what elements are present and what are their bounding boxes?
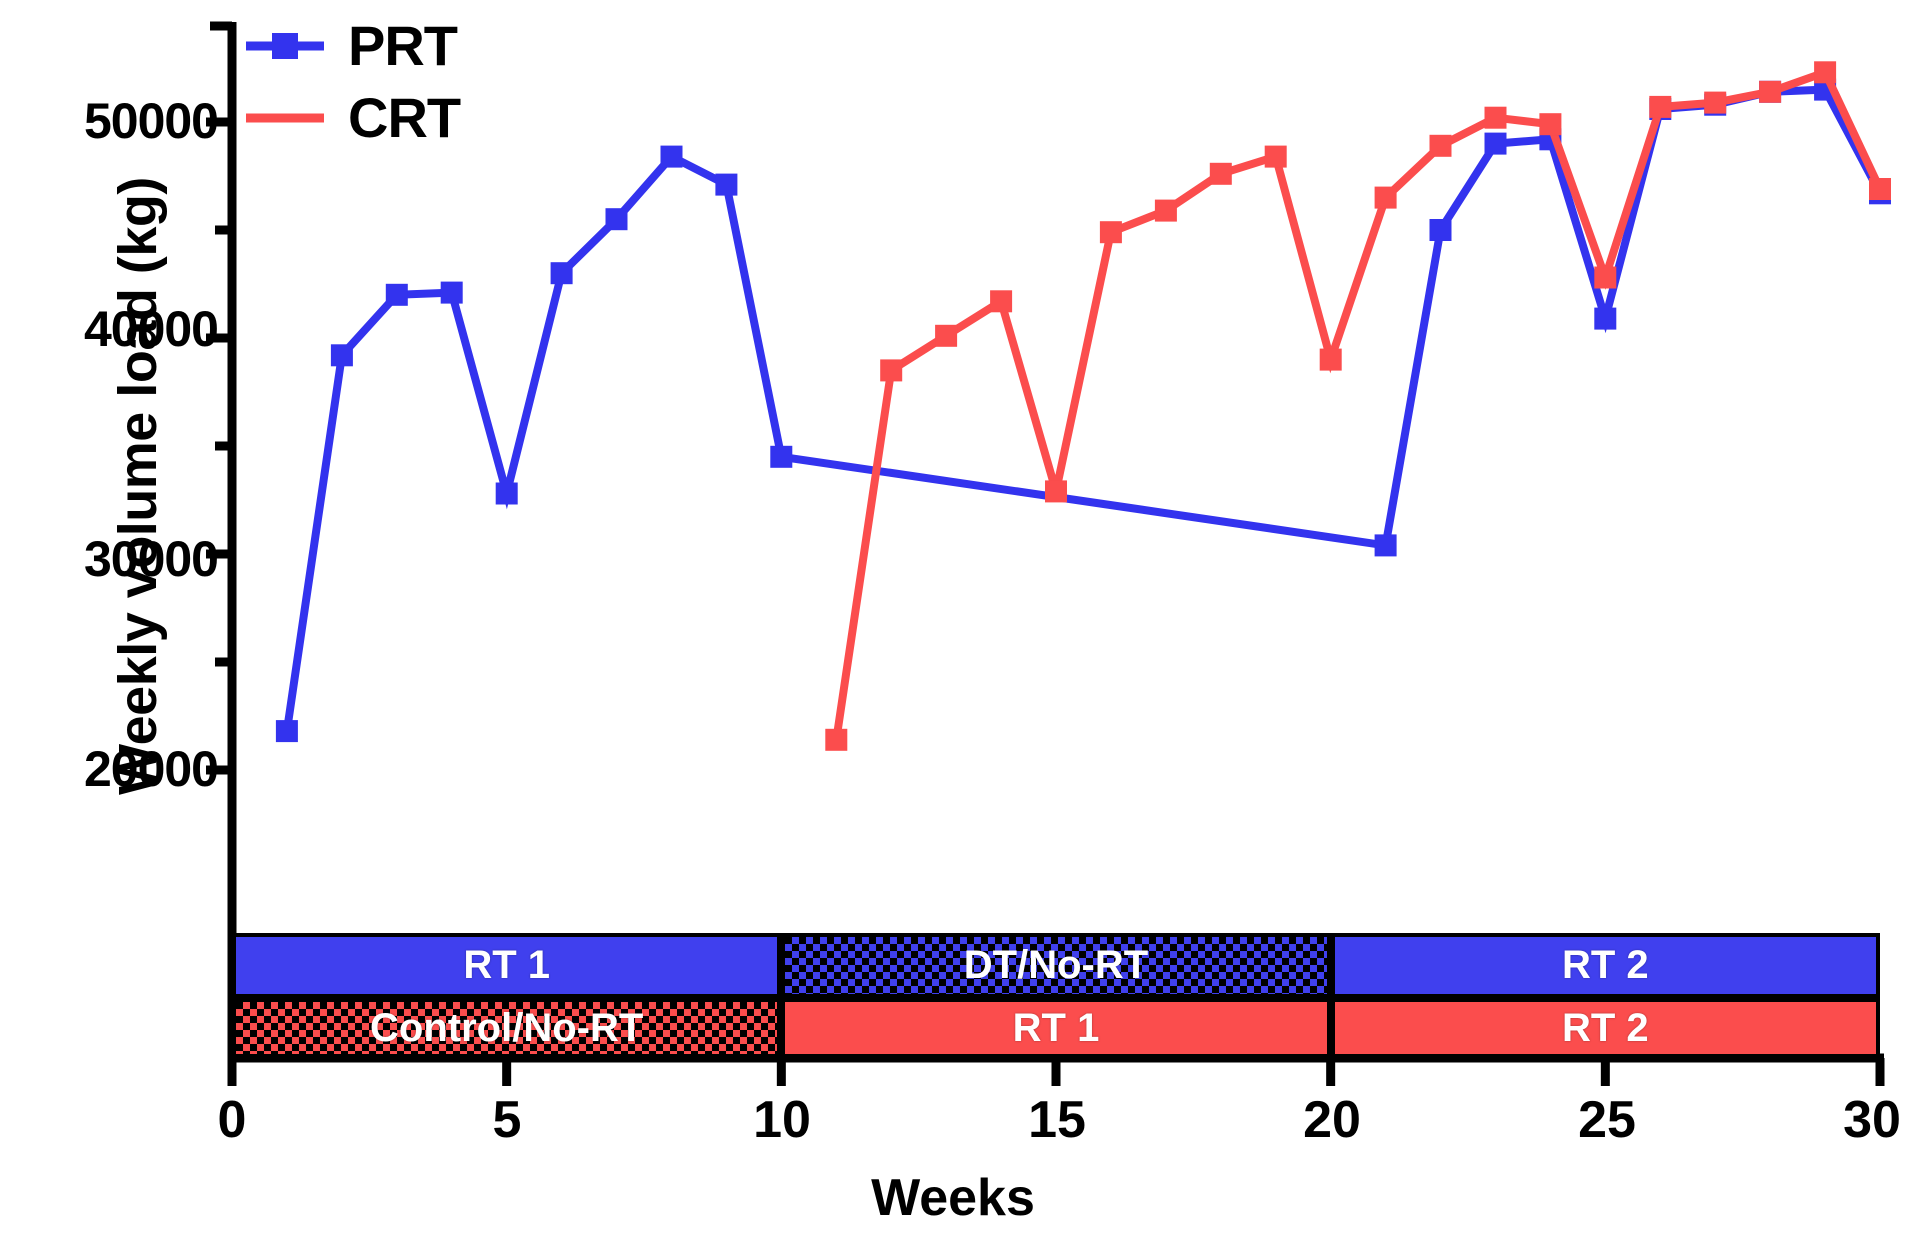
plot-area [0,0,1906,1246]
data-point-prt-w21 [1375,534,1397,556]
data-point-prt-w8 [661,146,683,168]
phase-segment-label: RT 2 [1562,943,1649,988]
data-point-crt-w29 [1814,61,1836,83]
data-point-crt-w25 [1594,267,1616,289]
series-crt [825,61,1891,751]
data-point-prt-w2 [331,344,353,366]
data-point-prt-w23 [1485,133,1507,155]
data-point-prt-w10 [770,446,792,468]
series-line-prt [287,90,1880,732]
phase-segment-label: DT/No-RT [964,943,1148,988]
data-series-layer [276,61,1891,751]
phase-segment-crt-3: RT 2 [1331,998,1880,1058]
data-point-crt-w14 [990,290,1012,312]
data-point-crt-w12 [880,359,902,381]
data-point-prt-w1 [276,720,298,742]
data-point-crt-w30 [1869,178,1891,200]
data-point-crt-w11 [825,729,847,751]
phase-segment-label: RT 1 [463,943,550,988]
chart-figure: Weekly volume load (kg) Weeks 50000 4000… [0,0,1906,1246]
data-point-prt-w5 [496,483,518,505]
phase-segment-prt-3: RT 2 [1331,933,1880,998]
phase-segment-label: RT 2 [1562,1006,1649,1051]
data-point-prt-w4 [441,282,463,304]
data-point-prt-w6 [551,262,573,284]
phase-segment-label: Control/No-RT [370,1006,643,1051]
data-point-prt-w25 [1594,308,1616,330]
data-point-prt-w22 [1430,219,1452,241]
data-point-crt-w27 [1704,92,1726,114]
data-point-crt-w22 [1430,135,1452,157]
data-point-crt-w23 [1485,107,1507,129]
data-point-prt-w3 [386,284,408,306]
data-point-crt-w26 [1649,96,1671,118]
phase-segment-crt-2: RT 1 [781,998,1330,1058]
data-point-crt-w24 [1539,113,1561,135]
series-line-crt [836,72,1880,740]
data-point-crt-w16 [1100,221,1122,243]
data-point-crt-w21 [1375,187,1397,209]
data-point-crt-w19 [1265,146,1287,168]
data-point-crt-w28 [1759,81,1781,103]
phase-segment-label: RT 1 [1013,1006,1100,1051]
phase-segment-prt-1: RT 1 [232,933,781,998]
data-point-prt-w7 [606,208,628,230]
phase-segment-crt-1: Control/No-RT [232,998,781,1058]
data-point-crt-w18 [1210,163,1232,185]
data-point-crt-w20 [1320,349,1342,371]
data-point-prt-w9 [715,174,737,196]
phase-segment-prt-2: DT/No-RT [781,933,1330,998]
data-point-crt-w13 [935,325,957,347]
data-point-crt-w15 [1045,480,1067,502]
data-point-crt-w17 [1155,200,1177,222]
series-prt [276,79,1891,743]
